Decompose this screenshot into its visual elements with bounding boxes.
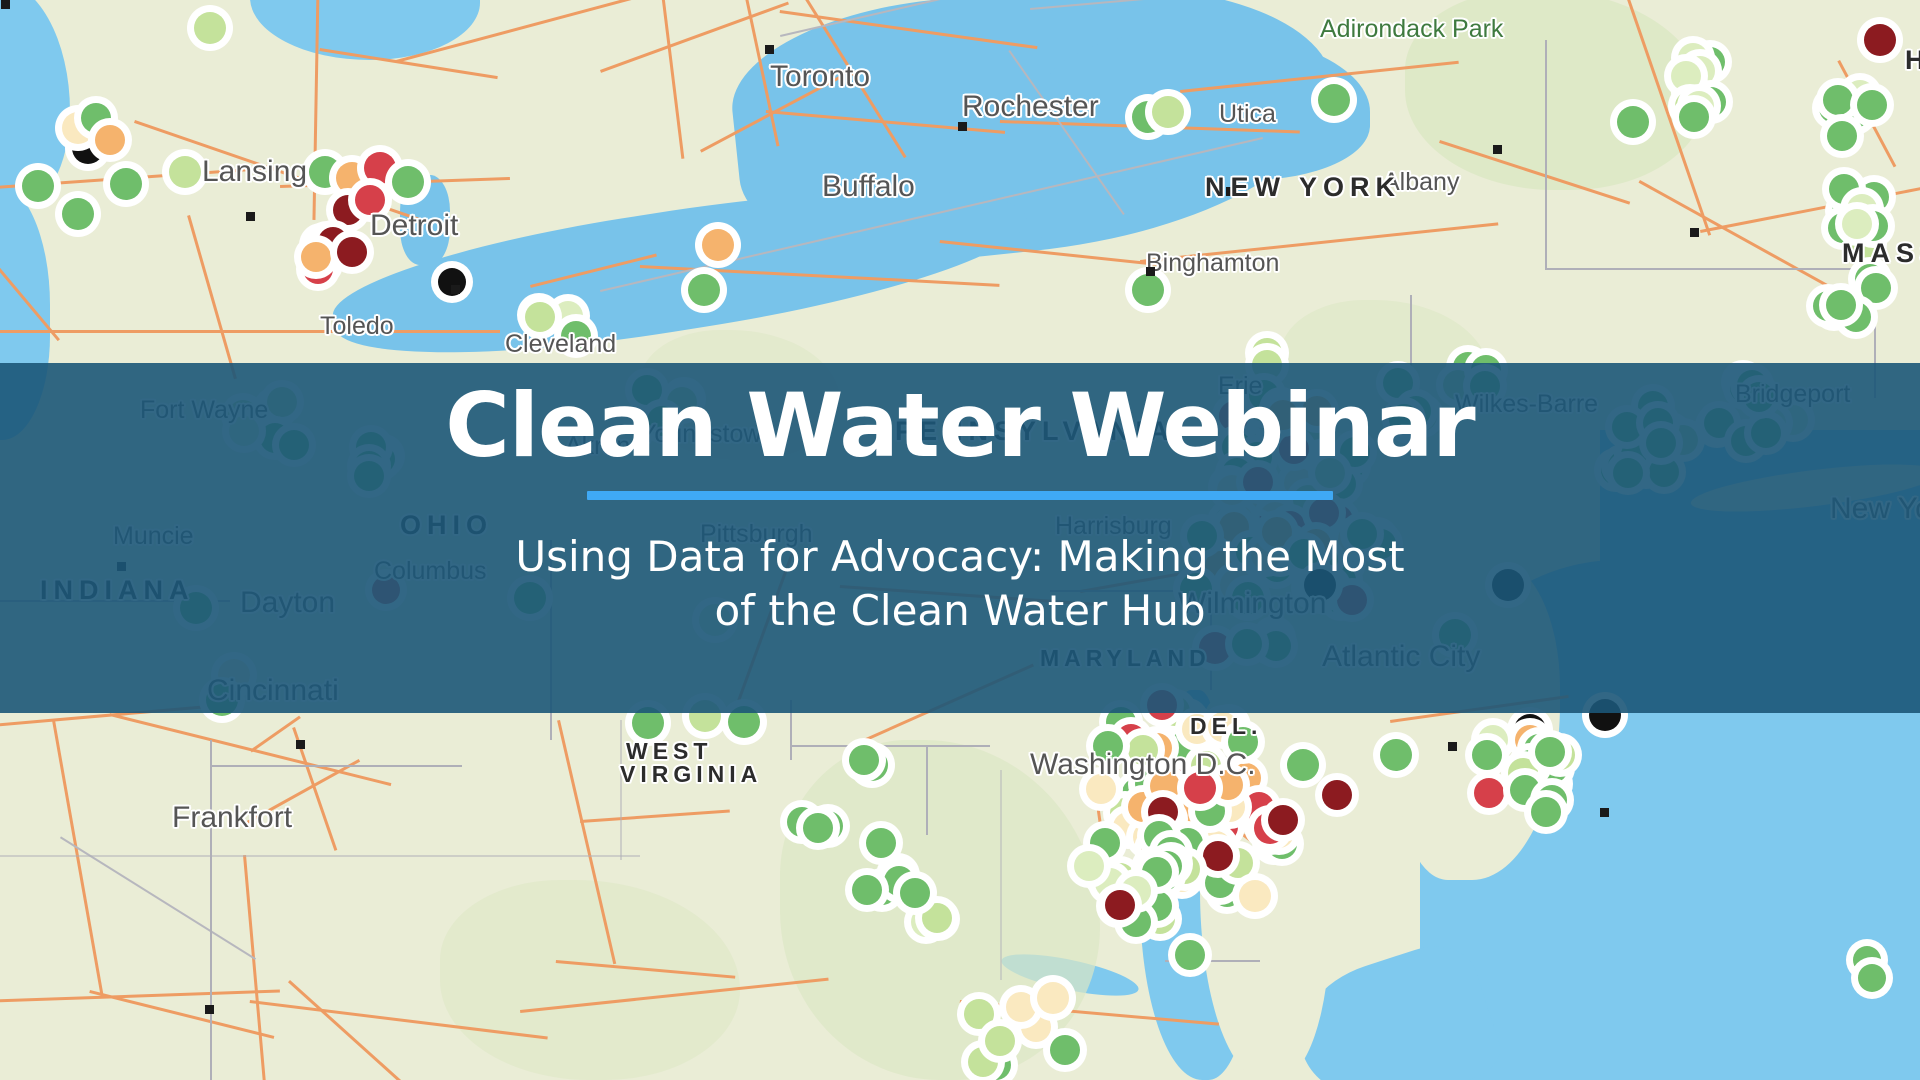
road-segment [0, 330, 500, 333]
map-data-marker[interactable] [62, 198, 94, 230]
city-dot [205, 1005, 214, 1014]
map-label-city: Lansing [202, 155, 307, 189]
city-dot [1448, 742, 1457, 751]
road-segment [0, 990, 280, 1003]
map-data-marker[interactable] [1006, 992, 1036, 1022]
map-data-marker[interactable] [1037, 982, 1069, 1014]
road-segment [187, 215, 237, 379]
map-data-marker[interactable] [1864, 24, 1896, 56]
map-data-marker[interactable] [301, 242, 331, 272]
map-label-state: HA [1905, 45, 1920, 76]
map-label-city: Utica [1219, 100, 1276, 129]
map-data-marker[interactable] [169, 156, 201, 188]
map-label-city: Binghamton [1146, 249, 1279, 278]
map-data-marker[interactable] [1380, 739, 1412, 771]
title-banner: Clean Water Webinar Using Data for Advoc… [0, 363, 1920, 713]
city-dot [296, 740, 305, 749]
map-data-marker[interactable] [337, 237, 367, 267]
map-label-city: Toledo [320, 312, 394, 341]
map-data-marker[interactable] [1823, 85, 1853, 115]
water-finger-lake-a [1035, 160, 1048, 238]
map-data-marker[interactable] [1842, 209, 1872, 239]
map-label-state: DEL. [1190, 713, 1262, 740]
webinar-title: Clean Water Webinar [445, 381, 1474, 471]
city-dot [246, 212, 255, 221]
state-border [1545, 40, 1547, 270]
map-data-marker[interactable] [1857, 90, 1887, 120]
map-label-city: Cleveland [505, 330, 616, 359]
map-data-marker[interactable] [1105, 890, 1135, 920]
map-label-city: Frankfort [172, 801, 292, 835]
webinar-subtitle: Using Data for Advocacy: Making the Most… [515, 530, 1404, 639]
state-border [1000, 770, 1002, 980]
map-data-marker[interactable] [852, 875, 882, 905]
map-label-state: MASSACH [1842, 238, 1920, 269]
map-data-marker[interactable] [1132, 274, 1164, 306]
map-data-marker[interactable] [1474, 778, 1504, 808]
state-border [620, 720, 622, 860]
map-data-marker[interactable] [1861, 273, 1891, 303]
city-dot [1690, 228, 1699, 237]
map-label-city: Toronto [770, 60, 870, 94]
map-data-marker[interactable] [1203, 841, 1233, 871]
title-divider [587, 491, 1333, 500]
city-dot [451, 285, 460, 294]
map-label-state: VIRGINIA [620, 761, 762, 788]
map-data-marker[interactable] [688, 274, 720, 306]
map-data-marker[interactable] [1472, 740, 1502, 770]
map-data-marker[interactable] [1679, 102, 1709, 132]
map-data-marker[interactable] [22, 170, 54, 202]
map-data-marker[interactable] [849, 745, 879, 775]
map-data-marker[interactable] [964, 999, 994, 1029]
map-data-marker[interactable] [1175, 940, 1205, 970]
map-data-marker[interactable] [1074, 851, 1104, 881]
map-data-marker[interactable] [525, 302, 555, 332]
map-data-marker[interactable] [1287, 749, 1319, 781]
map-data-marker[interactable] [110, 168, 142, 200]
map-data-marker[interactable] [985, 1026, 1015, 1056]
water-georgian-bay [250, 0, 480, 60]
city-dot [958, 122, 967, 131]
subtitle-line-2: of the Clean Water Hub [714, 586, 1205, 635]
road-segment [1639, 180, 1850, 299]
map-label-city: Detroit [370, 209, 458, 243]
map-data-marker[interactable] [194, 12, 226, 44]
state-border [210, 740, 212, 1080]
city-dot [1, 0, 10, 9]
state-border [212, 765, 462, 767]
map-data-marker[interactable] [1268, 805, 1298, 835]
city-dot [1146, 267, 1155, 276]
map-data-marker[interactable] [1827, 121, 1857, 151]
map-data-marker[interactable] [702, 229, 734, 261]
map-data-marker[interactable] [392, 166, 424, 198]
map-data-marker[interactable] [1531, 797, 1561, 827]
map-data-marker[interactable] [1318, 84, 1350, 116]
road-segment [580, 810, 730, 823]
map-data-marker[interactable] [1152, 96, 1184, 128]
forest-wv-south [440, 880, 740, 1080]
map-label-city: Rochester [962, 90, 1099, 124]
map-label-state: NEW YORK [1205, 172, 1401, 203]
road-segment [89, 990, 274, 1039]
city-dot [1493, 145, 1502, 154]
map-data-marker[interactable] [866, 828, 896, 858]
map-label-city: Buffalo [822, 170, 915, 204]
subtitle-line-1: Using Data for Advocacy: Making the Most [515, 532, 1404, 581]
map-data-marker[interactable] [95, 125, 125, 155]
city-dot [765, 45, 774, 54]
state-border [926, 745, 928, 835]
webinar-title-slide: TorontoRochesterUticaBuffaloAlbanyLansin… [0, 0, 1920, 1080]
state-border [790, 745, 990, 747]
state-border [0, 855, 640, 857]
state-border [1545, 268, 1875, 270]
road-segment [657, 0, 684, 159]
map-label-city: Washington D.C. [1030, 748, 1256, 782]
water-finger-lake-b [1068, 165, 1080, 237]
map-data-marker[interactable] [1617, 106, 1649, 138]
map-label-park: Adirondack Park [1320, 15, 1503, 44]
road-segment [250, 716, 301, 753]
map-data-marker[interactable] [1858, 964, 1886, 992]
map-data-marker[interactable] [1322, 780, 1352, 810]
city-dot [1600, 808, 1609, 817]
map-data-marker[interactable] [1239, 880, 1271, 912]
road-segment [243, 855, 275, 1080]
map-data-marker[interactable] [1050, 1035, 1080, 1065]
